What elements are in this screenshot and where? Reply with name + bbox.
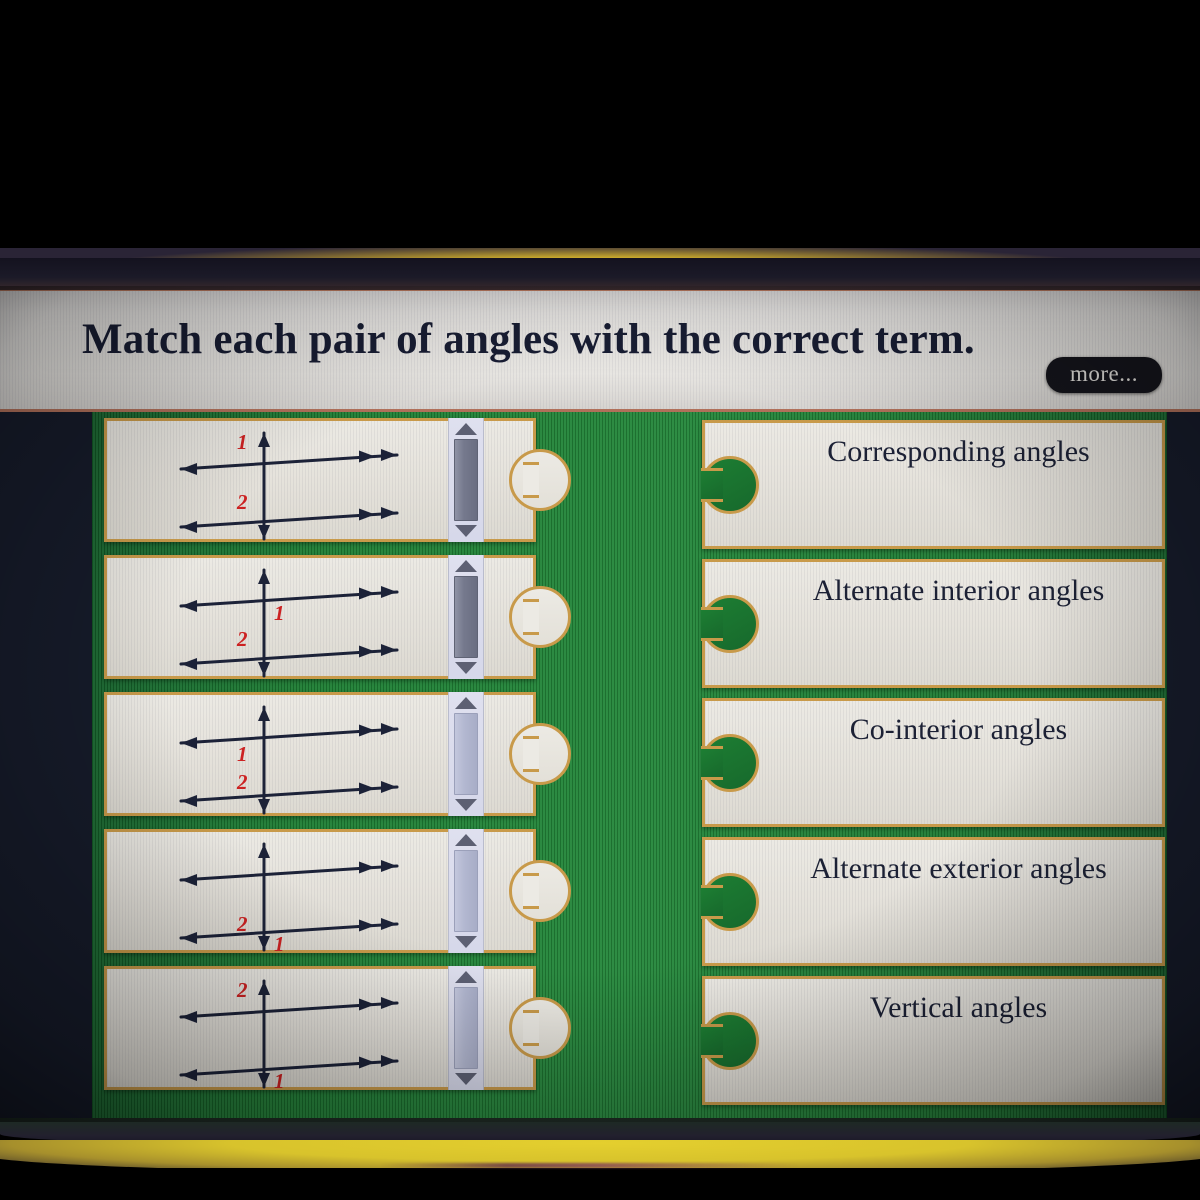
scroll-down-icon[interactable] — [455, 662, 477, 674]
puzzle-knob-neck — [523, 1010, 539, 1046]
angle-label-1: 1 — [274, 601, 285, 625]
scrollbar-thumb[interactable] — [454, 850, 478, 932]
scroll-down-icon[interactable] — [455, 936, 477, 948]
term-label: Alternate interior angles — [767, 562, 1162, 608]
scroll-up-icon[interactable] — [455, 697, 477, 709]
angle-label-1: 1 — [274, 1069, 285, 1089]
scroll-down-icon[interactable] — [455, 1073, 477, 1085]
diagram-tile-alternate-interior[interactable]: 1 2 — [104, 555, 536, 679]
puzzle-socket-neck — [701, 746, 723, 780]
puzzle-knob-neck — [523, 736, 539, 772]
angle-label-2: 2 — [236, 770, 248, 794]
puzzle-knob-neck — [523, 873, 539, 909]
tile-scrollbar[interactable] — [448, 966, 484, 1090]
angle-label-1: 1 — [237, 742, 248, 766]
scrollbar-thumb[interactable] — [454, 576, 478, 658]
diagram-tile-alternate-exterior[interactable]: 2 1 — [104, 966, 536, 1090]
term-label: Vertical angles — [767, 979, 1162, 1025]
term-tile-corresponding-angles[interactable]: Corresponding angles — [702, 420, 1165, 549]
puzzle-socket-neck — [701, 607, 723, 641]
term-tile-vertical-angles[interactable]: Vertical angles — [702, 976, 1165, 1105]
diagram-tile-corresponding[interactable]: 1 2 — [104, 418, 536, 542]
term-tile-alternate-interior-angles[interactable]: Alternate interior angles — [702, 559, 1165, 688]
bezel-top-black — [0, 0, 1200, 248]
tile-scrollbar[interactable] — [448, 418, 484, 542]
term-label: Alternate exterior angles — [767, 840, 1162, 886]
angle-label-1: 1 — [237, 430, 248, 454]
term-tile-alternate-exterior-angles[interactable]: Alternate exterior angles — [702, 837, 1165, 966]
scrollbar-thumb[interactable] — [454, 439, 478, 521]
scroll-up-icon[interactable] — [455, 834, 477, 846]
diagram-tile-vertical[interactable]: 2 1 — [104, 829, 536, 953]
bezel-top-navy — [0, 258, 1200, 290]
scroll-down-icon[interactable] — [455, 525, 477, 537]
page-title: Match each pair of angles with the corre… — [82, 315, 975, 364]
diagram-tile-column: 1 2 — [104, 418, 536, 1103]
puzzle-socket-neck — [701, 885, 723, 919]
tile-scrollbar[interactable] — [448, 692, 484, 816]
term-tile-column: Corresponding angles Alternate interior … — [702, 420, 1165, 1115]
scroll-up-icon[interactable] — [455, 560, 477, 572]
bezel-bottom-highlight — [380, 1163, 800, 1168]
scroll-up-icon[interactable] — [455, 423, 477, 435]
tile-scrollbar[interactable] — [448, 829, 484, 953]
question-header: Match each pair of angles with the corre… — [0, 288, 1200, 412]
diagram-tile-co-interior[interactable]: 1 2 — [104, 692, 536, 816]
scrollbar-thumb[interactable] — [454, 713, 478, 795]
term-label: Co-interior angles — [767, 701, 1162, 747]
bezel-bottom-black — [0, 1168, 1200, 1200]
angle-label-2: 2 — [236, 978, 248, 1002]
more-button[interactable]: more... — [1046, 357, 1162, 393]
term-label: Corresponding angles — [767, 423, 1162, 469]
screenshot-root: Match each pair of angles with the corre… — [0, 0, 1200, 1200]
scrollbar-thumb[interactable] — [454, 987, 478, 1069]
tile-scrollbar[interactable] — [448, 555, 484, 679]
angle-label-2: 2 — [236, 627, 248, 651]
puzzle-socket-neck — [701, 468, 723, 502]
angle-label-2: 2 — [236, 912, 248, 936]
puzzle-knob-neck — [523, 462, 539, 498]
term-tile-co-interior-angles[interactable]: Co-interior angles — [702, 698, 1165, 827]
scroll-down-icon[interactable] — [455, 799, 477, 811]
puzzle-socket-neck — [701, 1024, 723, 1058]
puzzle-knob-neck — [523, 599, 539, 635]
scroll-up-icon[interactable] — [455, 971, 477, 983]
angle-label-1: 1 — [274, 932, 285, 952]
angle-label-2: 2 — [236, 490, 248, 514]
